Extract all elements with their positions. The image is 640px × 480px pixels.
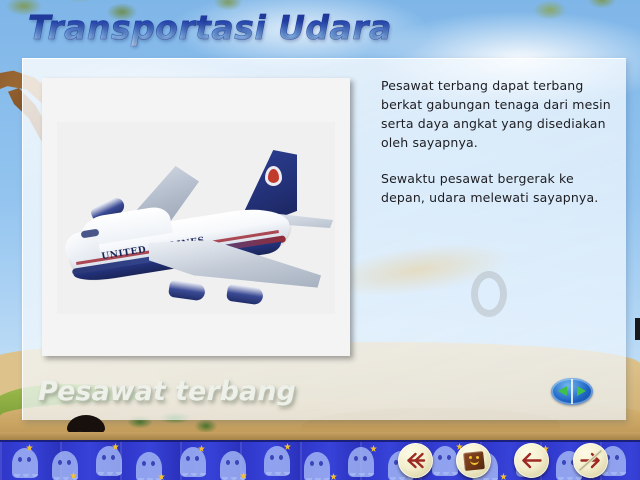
airplane-photo: UNITED AIRLINES [57,122,335,314]
airplane-illustration: UNITED AIRLINES [57,122,335,314]
triangle-left-icon[interactable] [558,386,567,396]
triangle-right-icon[interactable] [577,386,586,396]
star-icon [500,473,507,480]
forward-button-disabled[interactable] [573,443,608,478]
right-arrow-slashed-icon [573,443,608,478]
ghost-icon [12,448,38,478]
app-screen: Transportasi Udara UNITED A [0,0,640,480]
star-icon [370,445,377,452]
ring-watermark-icon [471,271,507,317]
screen-edge-marker [635,318,640,340]
lesson-text: Pesawat terbang dapat terbang berkat gab… [381,76,615,207]
photo-caption: Pesawat terbang [38,376,296,407]
double-left-arrow-icon [398,443,433,478]
paragraph-2: Sewaktu pesawat bergerak ke depan, udara… [381,169,615,207]
prev-next-oval[interactable] [551,378,593,405]
airplane-engine-near-1 [168,280,206,302]
paragraph-1: Pesawat terbang dapat terbang berkat gab… [381,76,615,152]
ghost-icon [304,452,330,480]
page-title: Transportasi Udara [28,8,392,47]
ghost-icon [180,447,206,477]
contents-book-button[interactable] [456,443,491,478]
star-icon [330,473,337,480]
back-button[interactable] [514,443,549,478]
oval-divider [571,379,573,404]
airplane-engine-near-2 [226,284,264,306]
airline-tail-logo-icon [265,166,282,186]
tree-leaves-right-icon [510,0,640,50]
ghost-icon [136,452,162,480]
left-arrow-icon [514,443,549,478]
ghost-icon [96,446,122,476]
photo-card: UNITED AIRLINES [42,78,350,356]
ghost-icon [264,446,290,476]
first-page-button[interactable] [398,443,433,478]
smiley-face-icon [469,456,480,466]
ghost-icon [348,447,374,477]
ghost-icon [432,446,458,476]
